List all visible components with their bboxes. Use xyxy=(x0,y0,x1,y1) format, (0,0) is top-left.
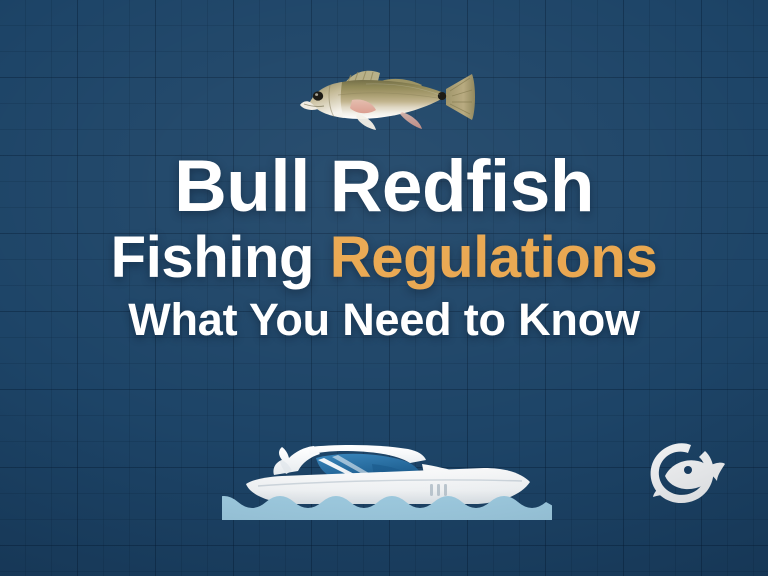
water-waves xyxy=(222,496,552,520)
page-subtitle-accent: Regulations xyxy=(330,225,658,290)
headline-block: Bull Redfish Fishing Regulations What Yo… xyxy=(0,150,768,342)
fish-brand-logo[interactable] xyxy=(641,436,725,512)
page-title: Bull Redfish xyxy=(0,150,768,223)
page-subtitle: Fishing Regulations xyxy=(0,229,768,287)
redfish-photo xyxy=(296,58,478,140)
poster-canvas: Bull Redfish Fishing Regulations What Yo… xyxy=(0,0,768,576)
page-tagline: What You Need to Know xyxy=(0,297,768,342)
page-subtitle-white: Fishing xyxy=(111,225,330,290)
yacht-illustration xyxy=(222,424,552,520)
